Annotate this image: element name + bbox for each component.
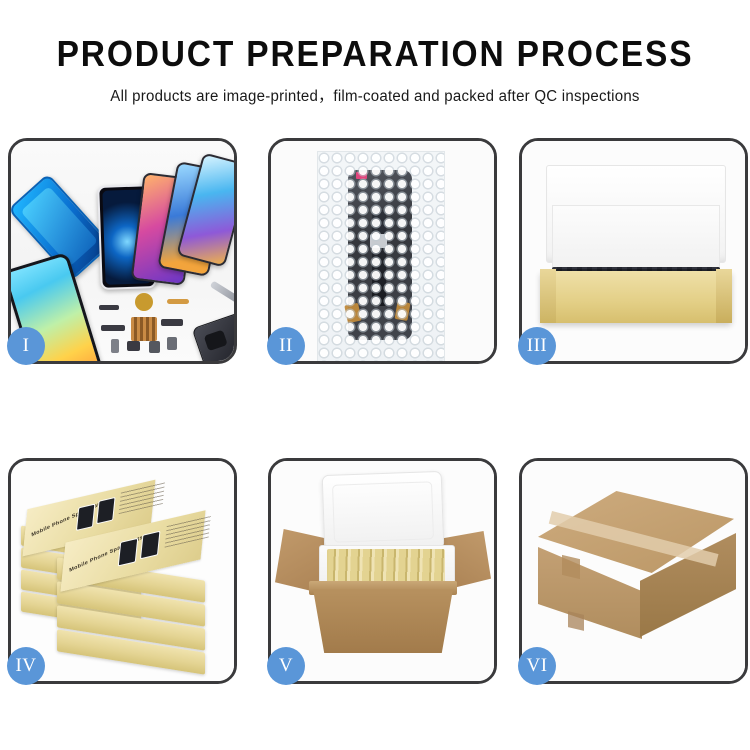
- step-image-5: [271, 461, 494, 681]
- foam-lid: [322, 471, 445, 553]
- part-flex-cable-icon: [167, 299, 189, 304]
- box-screen-print-icon: [140, 531, 161, 560]
- steps-grid: I II: [8, 138, 748, 684]
- step-panel-2[interactable]: II: [268, 138, 497, 364]
- box-side-left: [540, 269, 556, 323]
- bubble-wrap-bag: [317, 151, 445, 361]
- part-coil-icon: [135, 293, 153, 311]
- box-screen-print-icon: [118, 538, 139, 567]
- box-screen-print-icon: [96, 497, 115, 524]
- part-motor-icon: [167, 337, 177, 350]
- step-badge-3: III: [518, 327, 556, 365]
- step-panel-6[interactable]: VI: [519, 458, 748, 684]
- part-bar-icon: [99, 305, 119, 310]
- yellow-box-body: [540, 271, 732, 323]
- box-screen-print-icon: [76, 504, 95, 531]
- step-badge-6: VI: [518, 647, 556, 685]
- part-chip-grid-icon: [131, 317, 157, 341]
- carton-tab-lower: [568, 611, 584, 631]
- step-badge-4: IV: [7, 647, 45, 685]
- bubble-texture: [318, 152, 444, 361]
- part-speaker-icon: [111, 339, 119, 353]
- part-button-icon: [149, 341, 160, 353]
- step-image-4: Mobile Phone Spare Parts Mobile Phone Sp…: [11, 461, 234, 681]
- step-image-1: [11, 141, 234, 361]
- product-preparation-infographic: PRODUCT PREPARATION PROCESS All products…: [0, 0, 750, 750]
- page-subtitle: All products are image-printed，film-coat…: [11, 84, 739, 106]
- part-connector-icon: [101, 325, 125, 331]
- step-image-6: [522, 461, 745, 681]
- steps-row-1: I II: [8, 138, 748, 364]
- part-bracket-icon: [161, 319, 183, 326]
- step-panel-1[interactable]: I: [8, 138, 237, 364]
- step-badge-1: I: [7, 327, 45, 365]
- step-panel-3[interactable]: III: [519, 138, 748, 364]
- steps-row-2: Mobile Phone Spare Parts Mobile Phone Sp…: [8, 458, 748, 684]
- box-spec-lines: [165, 515, 211, 548]
- step-badge-5: V: [267, 647, 305, 685]
- step-image-3: [522, 141, 745, 361]
- page-title: PRODUCT PREPARATION PROCESS: [26, 36, 724, 72]
- step-image-2: [271, 141, 494, 361]
- carton-body: [313, 589, 453, 653]
- step-panel-4[interactable]: Mobile Phone Spare Parts Mobile Phone Sp…: [8, 458, 237, 684]
- step-badge-2: II: [267, 327, 305, 365]
- header: PRODUCT PREPARATION PROCESS All products…: [0, 0, 750, 106]
- carton-tab-upper: [562, 555, 580, 579]
- part-camera-icon: [127, 341, 140, 351]
- box-spec-lines: [119, 481, 165, 514]
- box-stack: Mobile Phone Spare Parts Mobile Phone Sp…: [17, 477, 234, 675]
- box-side-right: [716, 269, 732, 323]
- step-panel-5[interactable]: V: [268, 458, 497, 684]
